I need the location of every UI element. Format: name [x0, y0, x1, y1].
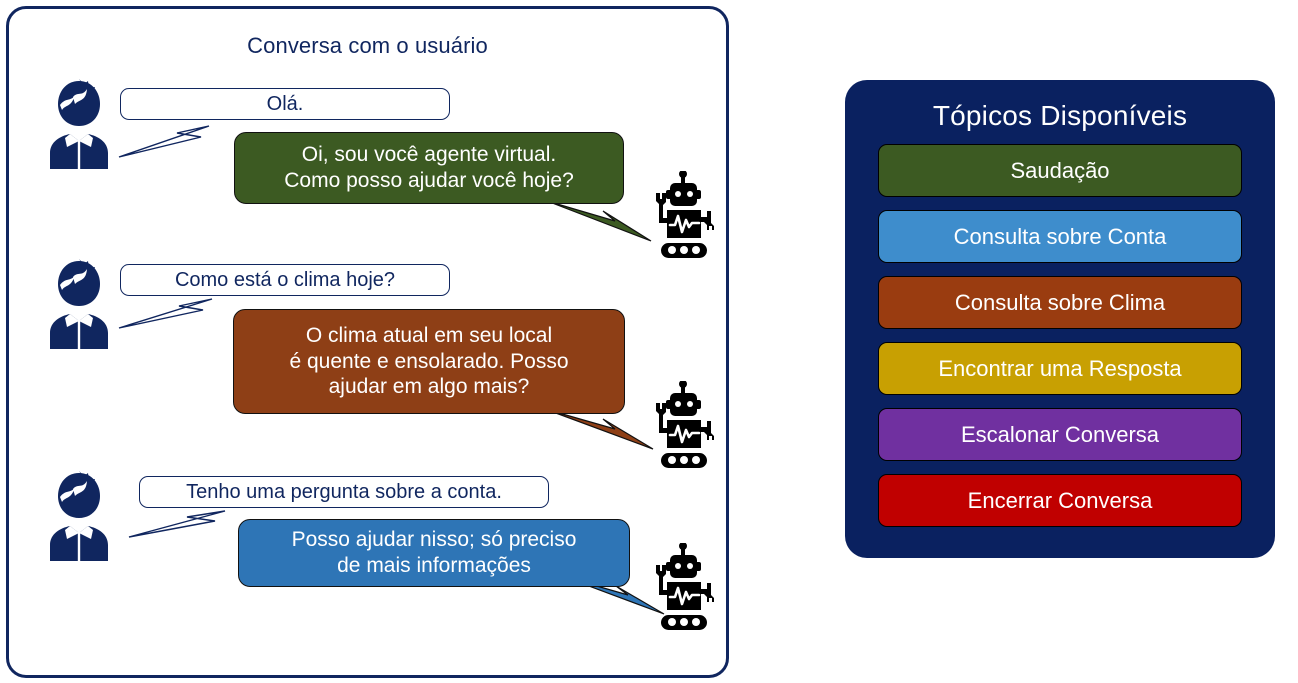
- page-title: Conversa com o usuário: [9, 33, 726, 59]
- topic-button-escalonar-conversa[interactable]: Escalonar Conversa: [878, 408, 1242, 461]
- user-message-bubble: Tenho uma pergunta sobre a conta.: [139, 476, 549, 508]
- bot-message-bubble: O clima atual em seu local é quente e en…: [233, 309, 625, 414]
- robot-avatar-icon: [645, 543, 723, 635]
- bot-message-bubble: Posso ajudar nisso; só preciso de mais i…: [238, 519, 630, 587]
- message-text: Oi, sou você agente virtual. Como posso …: [284, 142, 574, 193]
- user-avatar-icon: [42, 257, 116, 349]
- topic-button-label: Encontrar uma Resposta: [938, 356, 1181, 382]
- user-avatar-icon: [42, 469, 116, 561]
- user-avatar-icon: [42, 77, 116, 169]
- message-text: Como está o clima hoje?: [175, 268, 395, 292]
- bubble-tail-user-3: [127, 507, 237, 541]
- robot-avatar-icon: [645, 381, 723, 473]
- topic-button-encerrar-conversa[interactable]: Encerrar Conversa: [878, 474, 1242, 527]
- bot-message-bubble: Oi, sou você agente virtual. Como posso …: [234, 132, 624, 204]
- topic-button-label: Saudação: [1010, 158, 1109, 184]
- message-text: Tenho uma pergunta sobre a conta.: [186, 480, 502, 504]
- message-text: Posso ajudar nisso; só preciso de mais i…: [292, 527, 577, 578]
- topic-button-label: Escalonar Conversa: [961, 422, 1159, 448]
- topic-button-label: Consulta sobre Clima: [955, 290, 1165, 316]
- topic-button-saudacao[interactable]: Saudação: [878, 144, 1242, 197]
- user-message-bubble: Como está o clima hoje?: [120, 264, 450, 296]
- bubble-tail-user-2: [117, 295, 227, 331]
- robot-avatar-icon: [645, 171, 723, 263]
- message-text: O clima atual em seu local é quente e en…: [289, 323, 568, 400]
- bubble-tail-user-1: [117, 121, 227, 159]
- topics-panel-title: Tópicos Disponíveis: [878, 100, 1242, 132]
- user-message-bubble: Olá.: [120, 88, 450, 120]
- topic-button-consulta-conta[interactable]: Consulta sobre Conta: [878, 210, 1242, 263]
- bubble-tail-bot-1: [539, 199, 659, 244]
- topic-button-label: Consulta sobre Conta: [954, 224, 1167, 250]
- topic-button-label: Encerrar Conversa: [968, 488, 1153, 514]
- topics-panel: Tópicos Disponíveis Saudação Consulta so…: [845, 80, 1275, 558]
- conversation-card: Conversa com o usuário Olá.: [6, 6, 729, 678]
- topic-button-consulta-clima[interactable]: Consulta sobre Clima: [878, 276, 1242, 329]
- topic-button-encontrar-resposta[interactable]: Encontrar uma Resposta: [878, 342, 1242, 395]
- message-text: Olá.: [267, 92, 304, 116]
